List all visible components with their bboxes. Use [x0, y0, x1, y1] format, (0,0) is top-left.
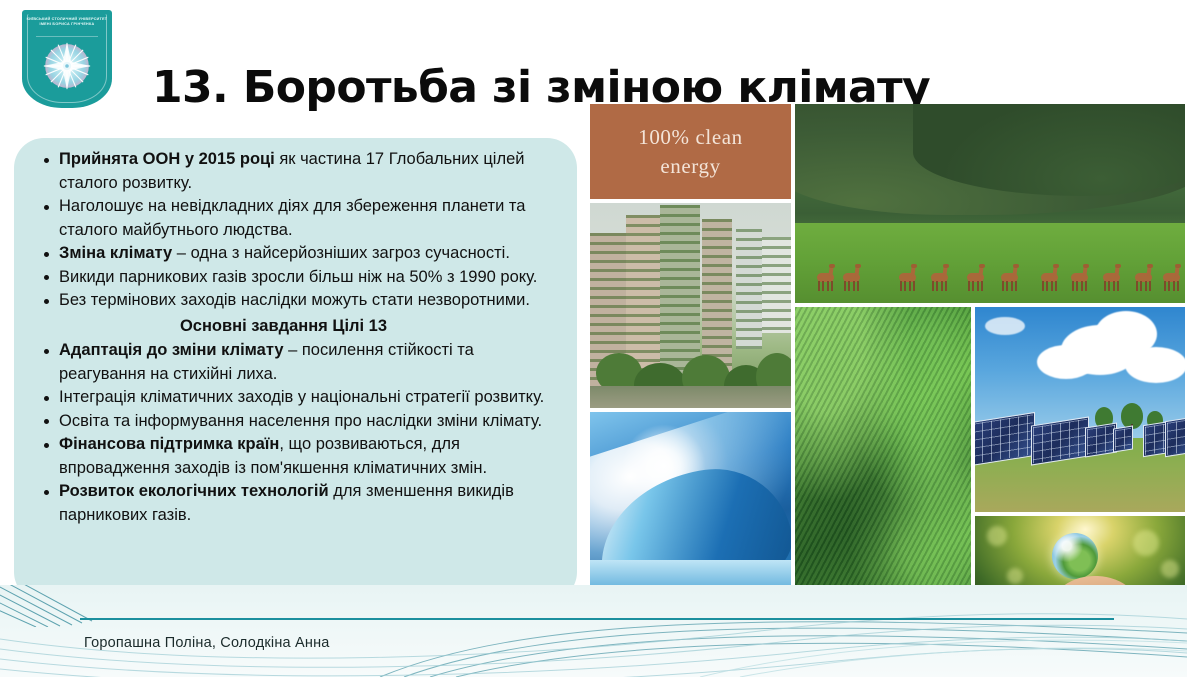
photo-green-vertical-city: [590, 203, 791, 408]
bullet-item: Адаптація до зміни клімату – посилення с…: [40, 339, 563, 386]
content-panel: Прийнята ООН у 2015 році як частина 17 Г…: [14, 138, 577, 602]
footer-wave-decoration: [0, 585, 1187, 677]
caption-line-1: 100% clean: [638, 123, 743, 152]
bullet-text: – одна з найсерйозніших загроз сучасност…: [172, 244, 510, 262]
university-logo: КИЇВСЬКИЙ СТОЛИЧНИЙ УНІВЕРСИТЕТ ІМЕНІ БО…: [22, 10, 112, 108]
star-compass-icon: [41, 40, 93, 92]
bullet-emphasis: Прийнята ООН у 2015 році: [59, 150, 275, 168]
tasks-bullet-list: Адаптація до зміни клімату – посилення с…: [40, 339, 563, 527]
bullet-item: Фінансова підтримка країн, що розвивають…: [40, 433, 563, 480]
bullet-item: Інтеграція кліматичних заходів у націона…: [40, 386, 563, 410]
slide-footer: Горопашна Поліна, Солодкіна Анна: [0, 585, 1187, 677]
intro-bullet-list: Прийнята ООН у 2015 році як частина 17 Г…: [40, 148, 563, 313]
logo-divider: [36, 36, 98, 37]
bullet-item: Розвиток екологічних технологій для змен…: [40, 480, 563, 527]
bullet-emphasis: Зміна клімату: [59, 244, 172, 262]
slide-root: КИЇВСЬКИЙ СТОЛИЧНИЙ УНІВЕРСИТЕТ ІМЕНІ БО…: [0, 0, 1187, 677]
bullet-item: Прийнята ООН у 2015 році як частина 17 Г…: [40, 148, 563, 195]
clean-energy-caption-text: 100% clean energy: [638, 123, 743, 181]
logo-name-line2: ІМЕНІ БОРИСА ГРІНЧЕНКА: [25, 22, 109, 28]
tasks-subheading: Основні завдання Цілі 13: [40, 315, 563, 339]
bullet-text: Освіта та інформування населення про нас…: [59, 412, 542, 430]
bullet-text: Інтеграція кліматичних заходів у націона…: [59, 388, 544, 406]
bullet-emphasis: Адаптація до зміни клімату: [59, 341, 284, 359]
footer-authors: Горопашна Поліна, Солодкіна Анна: [84, 635, 330, 651]
logo-university-name: КИЇВСЬКИЙ СТОЛИЧНИЙ УНІВЕРСИТЕТ ІМЕНІ БО…: [25, 17, 109, 28]
bullet-emphasis: Фінансова підтримка країн: [59, 435, 279, 453]
bullet-item: Зміна клімату – одна з найсерйозніших за…: [40, 242, 563, 266]
photo-solar-farm: [975, 307, 1187, 512]
image-collage: 100% clean energy: [590, 104, 1187, 612]
bullet-item: Наголошує на невідкладних діях для збере…: [40, 195, 563, 242]
clean-energy-caption-card: 100% clean energy: [590, 104, 791, 199]
footer-divider-line: [80, 618, 1114, 620]
caption-line-2: energy: [638, 152, 743, 181]
bullet-text: Без термінових заходів наслідки можуть с…: [59, 291, 530, 309]
bullet-content: Прийнята ООН у 2015 році як частина 17 Г…: [40, 148, 563, 527]
bullet-emphasis: Розвиток екологічних технологій: [59, 482, 329, 500]
bullet-text: Викиди парникових газів зросли більш ніж…: [59, 268, 537, 286]
bullet-item: Без термінових заходів наслідки можуть с…: [40, 289, 563, 313]
photo-deer-meadow: [795, 104, 1187, 303]
bullet-item: Освіта та інформування населення про нас…: [40, 410, 563, 434]
photo-forest-hills: [795, 307, 971, 612]
bullet-item: Викиди парникових газів зросли більш ніж…: [40, 266, 563, 290]
bullet-text: Наголошує на невідкладних діях для збере…: [59, 197, 525, 239]
photo-ocean-wave: [590, 412, 791, 612]
footer-corner-lines: [0, 585, 126, 627]
